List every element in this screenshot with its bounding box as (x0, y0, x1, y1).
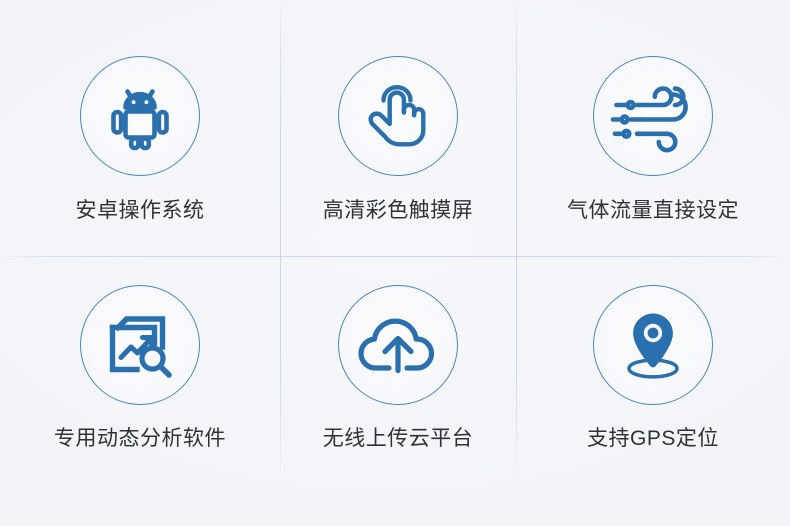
touch-hand-icon (361, 79, 435, 153)
feature-cell-dynamic-analysis-software[interactable]: 专用动态分析软件 (0, 256, 280, 478)
feature-cell-wireless-cloud-upload[interactable]: 无线上传云平台 (280, 256, 516, 478)
map-pin-icon (618, 308, 688, 382)
feature-label-direct-gas-flow-setting: 气体流量直接设定 (567, 198, 739, 223)
chart-search-icon (104, 309, 176, 381)
icon-circle-hd-color-touchscreen (338, 56, 458, 176)
feature-highlights-panel: 安卓操作系统 (0, 0, 790, 526)
icon-circle-dynamic-analysis-software (80, 285, 200, 405)
feature-cell-direct-gas-flow-setting[interactable]: 气体流量直接设定 (516, 0, 790, 256)
feature-label-android-os: 安卓操作系统 (76, 198, 205, 223)
icon-circle-gps-positioning (593, 285, 713, 405)
icon-circle-android-os (80, 56, 200, 176)
feature-label-gps-positioning: 支持GPS定位 (587, 426, 719, 451)
feature-cell-hd-color-touchscreen[interactable]: 高清彩色触摸屏 (280, 0, 516, 256)
icon-circle-wireless-cloud-upload (338, 285, 458, 405)
feature-cell-gps-positioning[interactable]: 支持GPS定位 (516, 256, 790, 478)
feature-label-wireless-cloud-upload: 无线上传云平台 (323, 426, 474, 451)
feature-label-hd-color-touchscreen: 高清彩色触摸屏 (323, 198, 474, 223)
cloud-upload-icon (358, 314, 438, 376)
wind-flow-icon (611, 82, 695, 150)
feature-cell-android-os[interactable]: 安卓操作系统 (0, 0, 280, 256)
feature-grid-container: 安卓操作系统 (0, 0, 790, 526)
android-robot-icon (105, 81, 175, 151)
feature-label-dynamic-analysis-software: 专用动态分析软件 (54, 426, 226, 451)
icon-circle-direct-gas-flow-setting (593, 56, 713, 176)
